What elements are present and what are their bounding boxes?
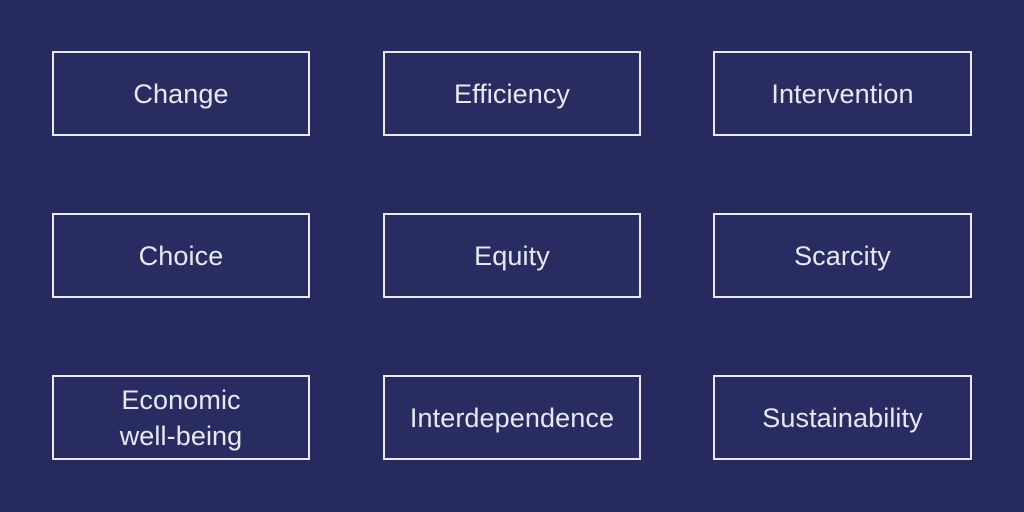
concept-box-equity[interactable]: Equity	[383, 213, 641, 298]
concept-box-interdependence[interactable]: Interdependence	[383, 375, 641, 460]
concept-box-choice[interactable]: Choice	[52, 213, 310, 298]
concept-box-intervention[interactable]: Intervention	[713, 51, 972, 136]
slide-canvas: Change Efficiency Intervention Choice Eq…	[0, 0, 1024, 512]
concept-box-change[interactable]: Change	[52, 51, 310, 136]
concept-label: Equity	[474, 238, 550, 274]
concept-box-grid: Change Efficiency Intervention Choice Eq…	[52, 51, 972, 460]
concept-box-efficiency[interactable]: Efficiency	[383, 51, 641, 136]
concept-label: Choice	[139, 238, 224, 274]
concept-label: Sustainability	[762, 400, 923, 436]
concept-label: Scarcity	[794, 238, 891, 274]
concept-box-scarcity[interactable]: Scarcity	[713, 213, 972, 298]
concept-label: Economic well-being	[120, 382, 243, 454]
concept-label: Intervention	[771, 76, 913, 112]
concept-label: Interdependence	[410, 400, 614, 436]
concept-box-economic-well-being[interactable]: Economic well-being	[52, 375, 310, 460]
concept-label: Efficiency	[454, 76, 570, 112]
concept-box-sustainability[interactable]: Sustainability	[713, 375, 972, 460]
concept-label: Change	[133, 76, 228, 112]
